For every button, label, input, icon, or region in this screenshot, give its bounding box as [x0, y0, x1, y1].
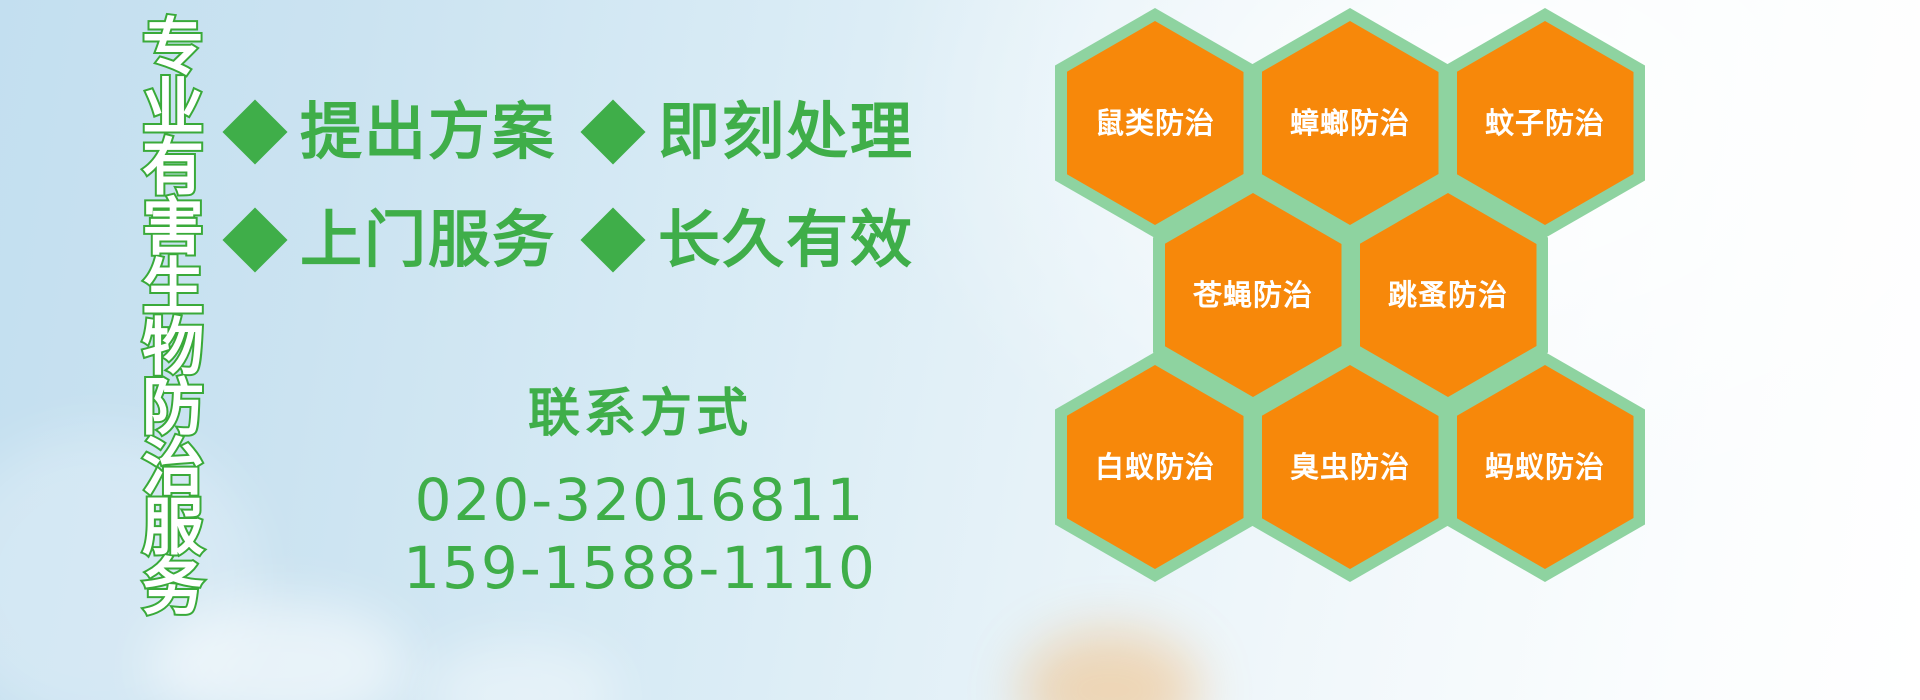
feature-row: 提出方案 即刻处理	[232, 78, 914, 186]
hex-inner-fill: 蟑螂防治	[1262, 21, 1439, 225]
feature-label: 即刻处理	[658, 101, 914, 163]
background-blur-blob	[150, 600, 410, 700]
hex-inner-fill: 臭虫防治	[1262, 365, 1439, 569]
hex-inner-fill: 蚊子防治	[1457, 21, 1634, 225]
service-label: 臭虫防治	[1290, 453, 1410, 482]
contact-block: 联系方式 020-32016811 159-1588-1110	[400, 388, 880, 603]
service-label: 蟑螂防治	[1290, 109, 1410, 138]
feature-item: 提出方案	[232, 101, 556, 163]
feature-label: 长久有效	[658, 209, 914, 271]
feature-label: 提出方案	[300, 101, 556, 163]
service-label: 跳蚤防治	[1388, 281, 1508, 310]
service-label: 鼠类防治	[1095, 109, 1215, 138]
service-label: 蚊子防治	[1485, 109, 1605, 138]
service-label: 蚂蚁防治	[1485, 453, 1605, 482]
feature-item: 长久有效	[590, 209, 914, 271]
diamond-bullet-icon	[580, 99, 645, 164]
feature-label: 上门服务	[300, 209, 556, 271]
hex-inner-fill: 蚂蚁防治	[1457, 365, 1634, 569]
promo-banner: 专业有害生物防治服务 提出方案 即刻处理 上门服务 长久有效	[0, 0, 1920, 700]
diamond-bullet-icon	[222, 99, 287, 164]
feature-list: 提出方案 即刻处理 上门服务 长久有效	[232, 78, 914, 294]
phone-number-landline[interactable]: 020-32016811	[400, 466, 880, 534]
service-label: 白蚁防治	[1095, 453, 1215, 482]
hex-inner-fill: 白蚁防治	[1067, 365, 1244, 569]
diamond-bullet-icon	[580, 207, 645, 272]
contact-title: 联系方式	[400, 388, 880, 440]
hex-inner-fill: 跳蚤防治	[1360, 193, 1537, 397]
phone-number-mobile[interactable]: 159-1588-1110	[400, 534, 880, 602]
vertical-company-slogan: 专业有害生物防治服务	[112, 14, 198, 614]
hex-inner-fill: 鼠类防治	[1067, 21, 1244, 225]
feature-item: 即刻处理	[590, 101, 914, 163]
service-hexagon-grid: 鼠类防治 蟑螂防治 蚊子防治 苍蝇防治 跳蚤防治 白蚁防	[1055, 0, 1775, 700]
feature-item: 上门服务	[232, 209, 556, 271]
hex-inner-fill: 苍蝇防治	[1165, 193, 1342, 397]
background-blur-blob	[420, 640, 620, 700]
feature-row: 上门服务 长久有效	[232, 186, 914, 294]
diamond-bullet-icon	[222, 207, 287, 272]
service-label: 苍蝇防治	[1193, 281, 1313, 310]
